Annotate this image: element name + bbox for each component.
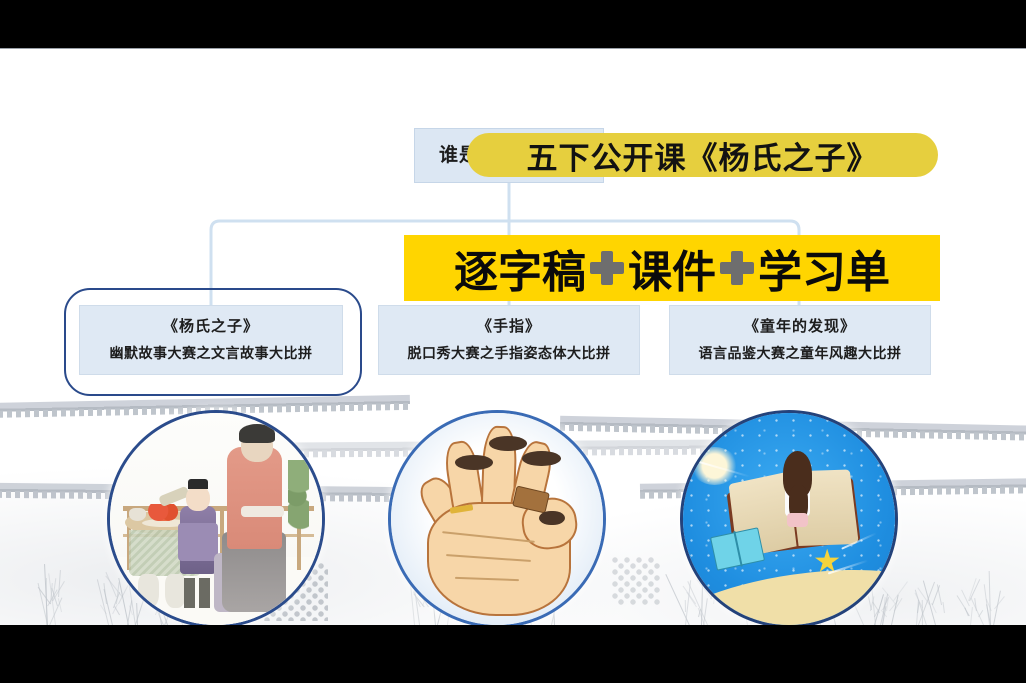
slide-top-edge: [0, 48, 1026, 49]
plus-icon: [720, 251, 754, 285]
node-subtitle: 脱口秀大赛之手指姿态体大比拼: [387, 344, 631, 364]
promo-banner-course-title: 五下公开课《杨氏之子》: [467, 133, 938, 177]
promo-banner-materials: 逐字稿 课件 学习单: [404, 235, 940, 301]
letterbox-top: [0, 0, 1026, 48]
promo-top-text: 五下公开课《杨氏之子》: [527, 133, 879, 178]
mindmap-node-shouzhi[interactable]: 《手指》 脱口秀大赛之手指姿态体大比拼: [378, 305, 640, 375]
promo-material-2: 课件: [628, 236, 716, 300]
plus-icon: [590, 251, 624, 285]
promo-material-1: 逐字稿: [454, 236, 586, 300]
node-title: 《手指》: [387, 316, 631, 338]
selected-node-highlight: [64, 288, 362, 396]
node-title: 《童年的发现》: [678, 316, 922, 338]
letterbox-bottom: [0, 625, 1026, 683]
promo-material-3: 学习单: [758, 236, 890, 300]
slide-canvas: 谁是幽默达人？ 《杨氏之子》 幽默故事大赛之文言故事大比拼 《手指》 脱口秀大赛…: [0, 49, 1026, 625]
node-subtitle: 语言品鉴大赛之童年风趣大比拼: [678, 344, 922, 364]
video-frame: 谁是幽默达人？ 《杨氏之子》 幽默故事大赛之文言故事大比拼 《手指》 脱口秀大赛…: [0, 0, 1026, 683]
mindmap-node-tongnian[interactable]: 《童年的发现》 语言品鉴大赛之童年风趣大比拼: [669, 305, 931, 375]
